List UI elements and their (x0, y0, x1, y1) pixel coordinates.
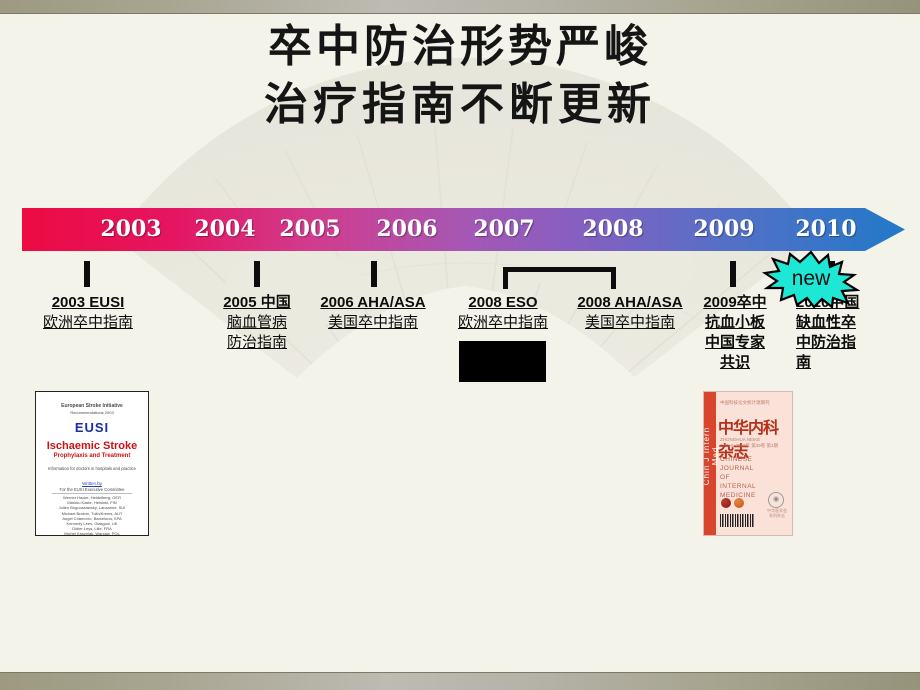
milestone-label-2008-eso: 2008 ESO 欧洲卒中指南 (441, 293, 565, 333)
eusi-section-written-by: Written by (40, 481, 144, 486)
journal-issue-line: ZHONGHUA NEIKE ZAZHI 2010年 第49卷 第2期 (720, 437, 784, 449)
new-badge: new (762, 250, 860, 308)
eusi-org: European Stroke Initiative (40, 403, 144, 409)
journal-barcode (720, 514, 754, 527)
journal-seal-caption: 中华医学会系列杂志 (766, 508, 788, 518)
milestone-label-2006: 2006 AHA/ASA 美国卒中指南 (303, 293, 443, 333)
milestone-label-2003: 2003 EUSI 欧洲卒中指南 (18, 293, 158, 333)
bottom-decor-band (0, 672, 920, 690)
eusi-guideline-cover-image: European Stroke Initiative Recommendatio… (35, 391, 149, 536)
timeline-year: 2003 (91, 207, 171, 252)
milestone-sub-3: 南 (796, 353, 880, 373)
timeline-year: 2005 (270, 207, 350, 252)
timeline-year: 2004 (185, 207, 265, 252)
milestone-sub-1: 缺血性卒 (796, 313, 880, 333)
eusi-blurb: Information for doctors in hospitals and… (40, 466, 144, 472)
milestone-title: 2008 ESO (441, 293, 565, 313)
milestone-sub-2: 中国专家 (694, 333, 776, 353)
journal-emblem-dot-2 (734, 498, 744, 508)
timeline-year: 2007 (464, 207, 544, 252)
journal-seal-icon: ◉ (768, 492, 784, 508)
journal-spine: Chin J Intern Med (704, 392, 716, 535)
milestone-sub-1: 抗血小板 (694, 313, 776, 333)
timeline-year: 2008 (573, 207, 653, 252)
timeline-tick-2005 (254, 261, 260, 287)
milestone-title: 2008 AHA/ASA (560, 293, 700, 313)
top-decor-band (0, 0, 920, 14)
eusi-names-block-1: Werner Hacke, Heidelberg, GERMarkku Kast… (40, 495, 144, 536)
journal-emblem-dot-1 (721, 498, 731, 508)
timeline-year: 2006 (367, 207, 447, 252)
journal-masthead-tiny: 中国科技论文统计源期刊 (720, 400, 784, 406)
eusi-org-sub: Recommendations 2003 (40, 410, 144, 415)
timeline-year: 2010 (786, 207, 866, 252)
slide-canvas: 卒中防治形势严峻 治疗指南不断更新 2003 2004 2005 2006 (0, 0, 920, 690)
milestone-sub-1: 美国卒中指南 (303, 313, 443, 333)
eusi-logo: EUSI (40, 420, 144, 435)
eusi-title: Ischaemic Stroke (40, 440, 144, 452)
eusi-exec-committee: For the EUSI Executive Committee (40, 487, 144, 492)
milestone-sub-1: 美国卒中指南 (560, 313, 700, 333)
timeline-year-labels: 2003 2004 2005 2006 2007 2008 2009 2010 (22, 207, 906, 252)
timeline-bracket-2008 (503, 267, 616, 291)
milestone-sub-3: 共识 (694, 353, 776, 373)
milestone-sub-2: 防治指南 (188, 333, 326, 353)
timeline-tick-2006 (371, 261, 377, 287)
timeline-tick-2003 (84, 261, 90, 287)
milestone-sub-1: 欧洲卒中指南 (441, 313, 565, 333)
journal-title-en-line: CHINESE (720, 456, 752, 463)
title-line-1: 卒中防治形势严峻 (268, 21, 652, 72)
page-title: 卒中防治形势严峻 治疗指南不断更新 (0, 18, 920, 134)
eusi-subtitle: Prophylaxis and Treatment (40, 453, 144, 459)
timeline-year: 2009 (684, 207, 764, 252)
chinese-journal-cover-image: Chin J Intern Med 中国科技论文统计源期刊 中华内科杂志 ZHO… (703, 391, 793, 536)
journal-title-en-line: OF (720, 474, 730, 481)
title-line-2: 治疗指南不断更新 (0, 76, 920, 134)
milestone-sub-2: 中防治指 (796, 333, 880, 353)
timeline-tick-2009 (730, 261, 736, 287)
redaction-block (459, 341, 546, 382)
milestone-label-2008-ahaasa: 2008 AHA/ASA 美国卒中指南 (560, 293, 700, 333)
milestone-sub-1: 欧洲卒中指南 (18, 313, 158, 333)
new-badge-label: new (762, 250, 860, 308)
milestone-title: 2003 EUSI (18, 293, 158, 313)
milestone-title: 2006 AHA/ASA (303, 293, 443, 313)
journal-title-en-line: INTERNAL (720, 483, 756, 490)
journal-title-en-line: JOURNAL (720, 465, 754, 472)
